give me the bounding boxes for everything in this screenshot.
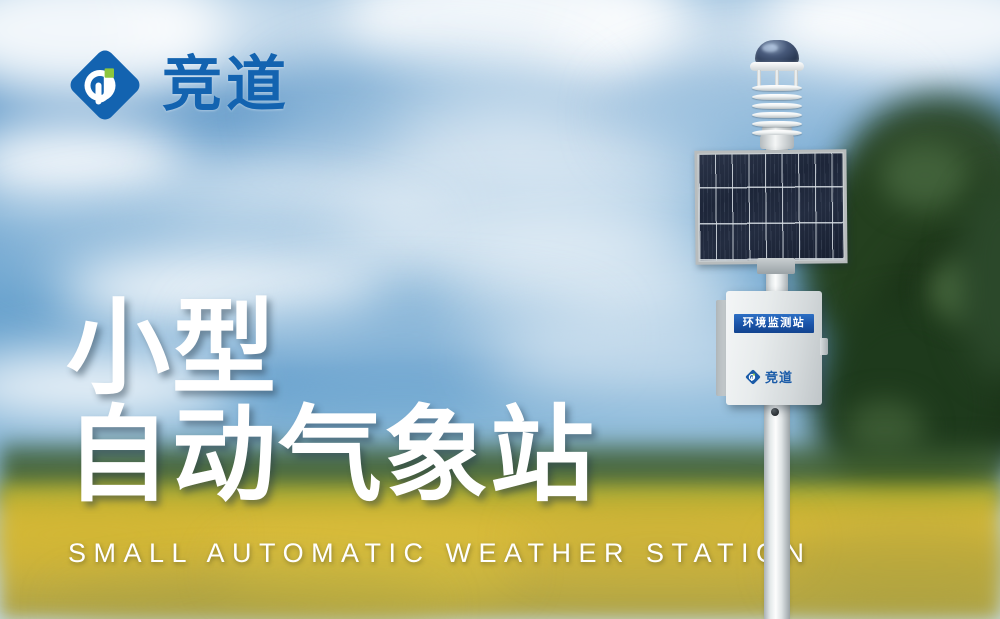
enclosure-box [726,291,822,405]
enclosure-brand-name: 竞道 [765,371,793,384]
solar-panel-bracket [757,258,795,274]
jingdao-diamond-logo-icon [745,369,761,385]
enclosure-banner-label: 环境监测站 [743,318,806,329]
enclosure-banner: 环境监测站 [734,314,814,333]
enclosure-brand-lockup: 竞道 [745,369,793,385]
mounting-pole-lower [764,404,790,619]
product-banner: 竞道 小型 自动气象站 SMALL AUTOMATIC WEATHER STAT… [0,0,1000,619]
enclosure-latch [820,338,828,355]
enclosure-screw [771,408,779,416]
solar-panel-icon [694,149,847,265]
weather-station-device: 环境监测站 竞道 [0,0,1000,619]
